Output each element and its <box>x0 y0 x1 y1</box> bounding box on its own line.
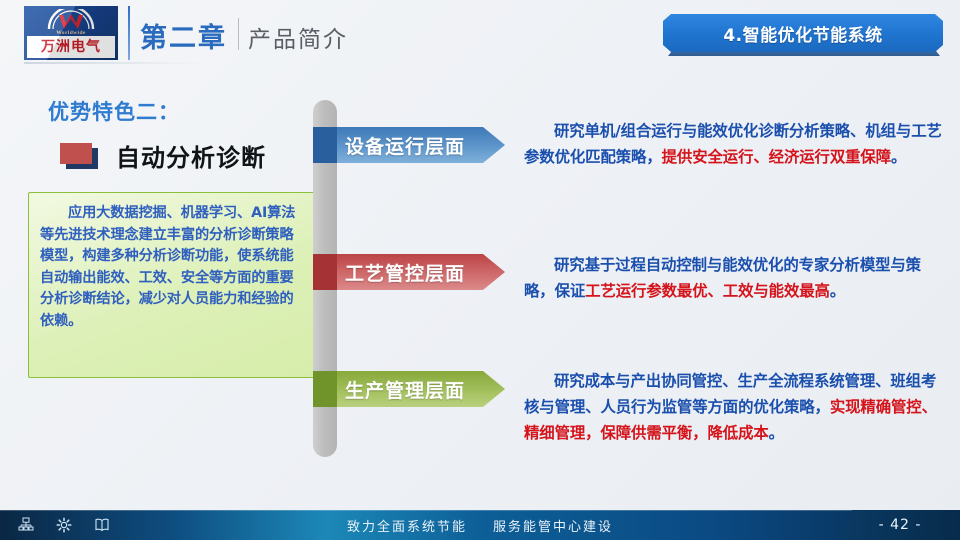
footer-slogan-left: 致力全面系统节能 <box>347 516 467 535</box>
ribbon-body: 4.智能优化节能系统 <box>663 14 943 52</box>
layer-label-process: 工艺管控层面 <box>337 259 465 286</box>
slide-header: Worldwide 万洲电气 第二章 产品简介 4.智能优化节能系统 <box>0 0 960 72</box>
footer-slogans: 致力全面系统节能 服务能管中心建设 <box>0 510 960 540</box>
description-text: 应用大数据挖掘、机器学习、AI算法等先进技术理念建立丰富的分析诊断策略模型，构建… <box>40 203 304 332</box>
desc-tail-text: 。 <box>769 424 784 442</box>
desc-highlight-text: 提供安全运行、经济运行双重保障 <box>662 148 891 166</box>
band-arrow: 设备运行层面 <box>337 127 505 163</box>
desc-highlight-text: 工艺运行参数最优、工效与能效最高 <box>585 282 830 300</box>
band-stub <box>313 371 337 407</box>
slide-root: Worldwide 万洲电气 第二章 产品简介 4.智能优化节能系统 优势特色二… <box>0 0 960 540</box>
section-ribbon: 4.智能优化节能系统 <box>663 14 943 56</box>
header-underline <box>24 62 204 64</box>
band-arrow: 生产管理层面 <box>337 371 505 407</box>
band-stub <box>313 127 337 163</box>
header-divider <box>128 6 130 60</box>
worldwide-arch-emblem <box>45 9 97 31</box>
page-number: - 42 - <box>840 510 960 540</box>
square-bullet-icon <box>60 143 98 169</box>
ribbon-title: 4.智能优化节能系统 <box>723 21 882 46</box>
footer-slogan-right: 服务能管中心建设 <box>493 516 613 535</box>
feature-label: 自动分析诊断 <box>116 138 266 173</box>
desc-tail-text: 。 <box>891 148 906 166</box>
company-logo: Worldwide 万洲电气 <box>24 6 118 60</box>
layer-desc-process: 研究基于过程自动控制与能效优化的专家分析模型与策略，保证工艺运行参数最优、工效与… <box>524 252 944 304</box>
band-arrow: 工艺管控层面 <box>337 254 505 290</box>
chapter-title: 第二章 <box>140 16 227 55</box>
desc-tail-text: 。 <box>830 282 845 300</box>
layer-label-production: 生产管理层面 <box>337 376 465 403</box>
layer-desc-production: 研究成本与产出协同管控、生产全流程系统管理、班组考核与管理、人员行为监管等方面的… <box>524 368 944 446</box>
chapter-subtitle: 产品简介 <box>248 20 348 54</box>
square-bullet-front <box>60 143 92 164</box>
band-stub <box>313 254 337 290</box>
layer-desc-equipment: 研究单机/组合运行与能效优化诊断分析策略、机组与工艺参数优化匹配策略，提供安全运… <box>524 118 944 170</box>
logo-chinese-text: 万洲电气 <box>27 36 115 58</box>
description-panel: 应用大数据挖掘、机器学习、AI算法等先进技术理念建立丰富的分析诊断策略模型，构建… <box>28 192 316 378</box>
layer-label-equipment: 设备运行层面 <box>337 132 465 159</box>
logo-latin-text: Worldwide <box>24 30 118 36</box>
chapter-separator <box>238 18 239 50</box>
feature-heading: 自动分析诊断 <box>60 138 266 173</box>
slide-footer: 致力全面系统节能 服务能管中心建设 - 42 - <box>0 510 960 540</box>
advantage-title: 优势特色二： <box>48 96 180 126</box>
